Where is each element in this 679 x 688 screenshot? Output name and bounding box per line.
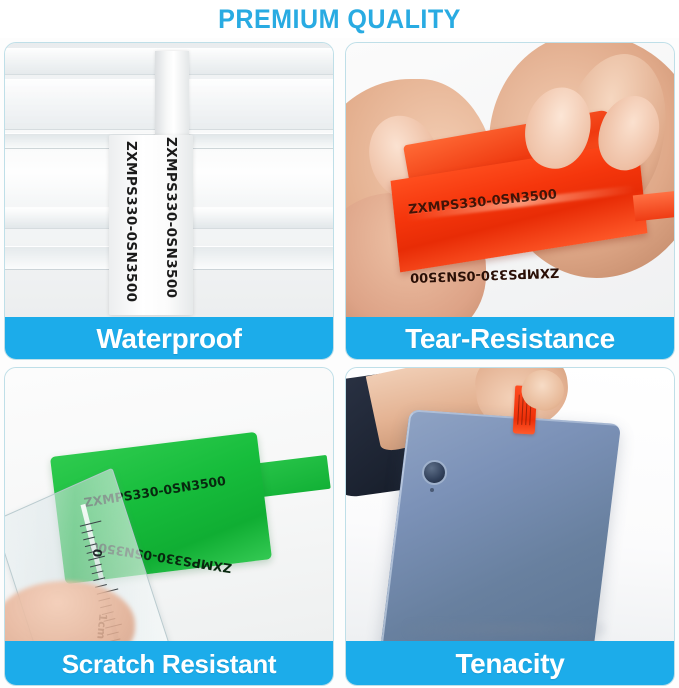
- tablet-edge-highlight: [379, 409, 623, 641]
- header: PREMIUM QUALITY: [0, 0, 679, 38]
- feature-card-waterproof: ZXMPS330-0SN3500 ZXMPS330-0SN3500 Waterp…: [4, 42, 334, 360]
- ruler-mark-0: 0: [90, 548, 105, 558]
- scratch-resistant-photo: ZXMPS330-0SN3500 ZXMPS330-0SN3500: [5, 368, 333, 641]
- tablet-microphone: [430, 488, 434, 492]
- caption-bar-waterproof: Waterproof: [4, 317, 334, 360]
- red-label-notch: [633, 191, 674, 222]
- feature-card-scratch-resistant: ZXMPS330-0SN3500 ZXMPS330-0SN3500: [4, 367, 334, 686]
- tablet-shadow: [406, 621, 606, 637]
- premium-quality-infographic: PREMIUM QUALITY ZXMPS330-0SN3500 ZXMPS33…: [0, 0, 679, 688]
- caption-bar-tenacity: Tenacity: [345, 641, 675, 686]
- caption-bar-scratch-resistant: Scratch Resistant: [4, 641, 334, 686]
- page-title: PREMIUM QUALITY: [218, 4, 461, 35]
- label-code-text: ZXMPS330-0SN3500: [163, 137, 179, 298]
- white-label-tag: [109, 135, 193, 315]
- caption-label: Tear-Resistance: [405, 323, 615, 355]
- waterproof-photo: ZXMPS330-0SN3500 ZXMPS330-0SN3500: [5, 43, 333, 317]
- tenacity-photo: [346, 368, 674, 641]
- caption-label: Scratch Resistant: [62, 649, 277, 680]
- label-code-text: ZXMPS330-0SN3500: [123, 141, 139, 302]
- caption-label: Waterproof: [96, 323, 241, 355]
- feature-card-tenacity: Tenacity: [345, 367, 675, 686]
- feature-card-tear-resistance: ZXMPS330-0SN3500 ZXMPS330-0SN3500 Tear-R…: [345, 42, 675, 360]
- caption-bar-tear-resistance: Tear-Resistance: [345, 317, 675, 360]
- caption-label: Tenacity: [455, 648, 564, 680]
- tear-resistance-photo: ZXMPS330-0SN3500 ZXMPS330-0SN3500: [346, 43, 674, 317]
